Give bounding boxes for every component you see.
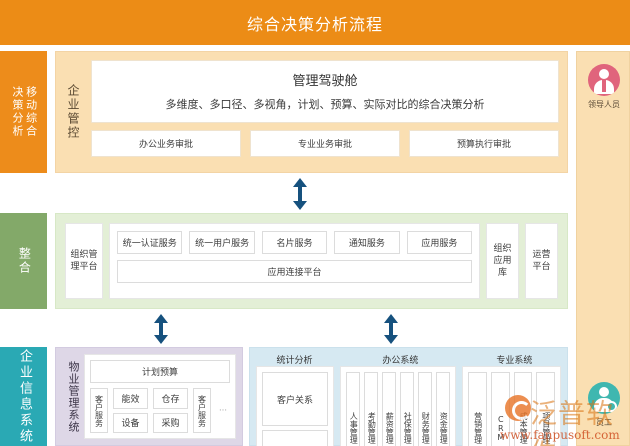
- staff-gear-avatar-icon: [588, 382, 620, 414]
- property-tile-grid: 客户服务 能效 仓存 设备 采购 客户服务 ⋮: [90, 388, 230, 433]
- customer-service-left-tile[interactable]: 客户服务: [90, 388, 108, 433]
- gear-icon: [606, 401, 617, 412]
- plan-budget-bar[interactable]: 计划预算: [90, 360, 230, 383]
- pro-crm[interactable]: CRM: [491, 372, 510, 446]
- arrow-control-to-integration: [290, 178, 310, 214]
- org-application-library-card[interactable]: 组织应用库: [486, 223, 519, 299]
- header-office: 办公系统: [333, 353, 468, 366]
- service-application[interactable]: 应用服务: [407, 231, 472, 254]
- role-staff[interactable]: 员工: [577, 382, 630, 428]
- staff-head-shape: [599, 387, 609, 397]
- service-business-card[interactable]: 名片服务: [262, 231, 327, 254]
- property-tile-row: 设备 采购: [113, 413, 188, 434]
- arrow-integration-to-systems: [382, 314, 400, 348]
- leader-tie-shape: [602, 80, 606, 92]
- sidebar-item-integration: 整合: [0, 213, 47, 309]
- double-vertical-arrow-icon: [152, 314, 170, 344]
- stat-customer-relations[interactable]: 客户关系: [262, 372, 328, 426]
- services-row: 统一认证服务 统一用户服务 名片服务 通知服务 应用服务: [117, 231, 472, 254]
- double-vertical-arrow-icon: [290, 178, 310, 210]
- office-attendance-management[interactable]: 考勤管理: [364, 372, 378, 446]
- cockpit-title: 管理驾驶舱: [98, 70, 552, 89]
- org-management-platform-card[interactable]: 组织管理平台: [65, 223, 103, 299]
- office-fund-label: 资金管理: [439, 412, 447, 444]
- tile-procurement[interactable]: 采购: [153, 413, 188, 434]
- page-title: 综合决策分析流程: [0, 0, 630, 45]
- property-tile-row: 能效 仓存: [113, 388, 188, 409]
- property-side-label-wrap: 物业管理系统: [62, 354, 84, 439]
- rail-label-mobile: 移动综合: [24, 86, 37, 138]
- header-statistics: 统计分析: [256, 353, 333, 366]
- office-fund-management[interactable]: 资金管理: [436, 372, 450, 446]
- approval-professional-button[interactable]: 专业业务审批: [250, 130, 400, 157]
- flow-diagram-root: 综合决策分析流程 移动综合 决策分析 整合 企业信息系统 企业管控 管理驾驶舱 …: [0, 0, 630, 446]
- service-unified-user[interactable]: 统一用户服务: [189, 231, 254, 254]
- more-dots-icon: ⋮: [216, 388, 230, 433]
- integration-platform-panel: 组织管理平台 统一认证服务 统一用户服务 名片服务 通知服务 应用服务 应用连接…: [55, 213, 568, 309]
- enterprise-control-panel: 企业管控 管理驾驶舱 多维度、多口径、多视角，计划、预算、实际对比的综合决策分析…: [55, 51, 568, 173]
- property-side-label: 物业管理系统: [65, 361, 81, 433]
- services-box: 统一认证服务 统一用户服务 名片服务 通知服务 应用服务 应用连接平台: [109, 223, 480, 299]
- tile-energy-efficiency[interactable]: 能效: [113, 388, 148, 409]
- office-payroll-management[interactable]: 薪资管理: [382, 372, 396, 446]
- stat-report-system[interactable]: 报表系统: [262, 430, 328, 446]
- control-panel-side-label-wrap: 企业管控: [56, 52, 91, 172]
- office-hr-management[interactable]: 人事管理: [346, 372, 360, 446]
- role-leader[interactable]: 领导人员: [577, 64, 630, 110]
- approval-office-button[interactable]: 办公业务审批: [91, 130, 241, 157]
- header-professional: 专业系统: [468, 353, 561, 366]
- business-systems-panel: 统计分析 办公系统 专业系统 客户关系 报表系统 人事管理 考勤管理 薪资管理 …: [249, 347, 568, 446]
- service-notification[interactable]: 通知服务: [334, 231, 399, 254]
- property-management-panel: 物业管理系统 计划预算 客户服务 能效 仓存 设备 采购: [55, 347, 243, 446]
- operation-platform-card[interactable]: 运营平台: [525, 223, 558, 299]
- office-social-insurance-management[interactable]: 社保管理: [400, 372, 414, 446]
- rail-label-enterprise: 企业信息系统: [16, 349, 31, 445]
- role-leader-label: 领导人员: [577, 99, 630, 110]
- statistics-box: 客户关系 报表系统: [256, 366, 334, 446]
- customer-service-right-tile[interactable]: 客户服务: [193, 388, 211, 433]
- roles-sidebar: 领导人员 员工: [576, 51, 630, 446]
- professional-systems-box: 营销管理 CRM 成本管理 项目管理: [462, 366, 561, 446]
- pro-cost-label: 成本管理: [519, 412, 527, 444]
- systems-body: 客户关系 报表系统 人事管理 考勤管理 薪资管理 社保管理 财务管理 资金管理 …: [256, 366, 561, 446]
- office-payroll-label: 薪资管理: [385, 412, 393, 444]
- systems-header-row: 统计分析 办公系统 专业系统: [256, 353, 561, 366]
- application-connect-platform[interactable]: 应用连接平台: [117, 260, 472, 283]
- pro-project-label: 项目管理: [541, 412, 549, 444]
- double-vertical-arrow-icon: [382, 314, 400, 344]
- office-finance-label: 财务管理: [421, 412, 429, 444]
- office-systems-box: 人事管理 考勤管理 薪资管理 社保管理 财务管理 资金管理: [340, 366, 456, 446]
- sidebar-item-enterprise-info-system: 企业信息系统: [0, 347, 47, 446]
- pro-marketing-management[interactable]: 营销管理: [468, 372, 487, 446]
- approval-button-row: 办公业务审批 专业业务审批 预算执行审批: [91, 130, 559, 157]
- property-2x2-grid: 能效 仓存 设备 采购: [113, 388, 188, 433]
- property-inner: 计划预算 客户服务 能效 仓存 设备 采购 客户服务: [84, 354, 236, 439]
- office-social-label: 社保管理: [403, 412, 411, 444]
- approval-budget-button[interactable]: 预算执行审批: [409, 130, 559, 157]
- pro-marketing-label: 营销管理: [473, 412, 481, 444]
- management-cockpit-card[interactable]: 管理驾驶舱 多维度、多口径、多视角，计划、预算、实际对比的综合决策分析: [91, 60, 559, 123]
- arrow-integration-to-property: [152, 314, 170, 348]
- pro-project-management[interactable]: 项目管理: [536, 372, 555, 446]
- control-panel-side-label: 企业管控: [65, 84, 82, 140]
- role-staff-label: 员工: [577, 417, 630, 428]
- leader-avatar-icon: [588, 64, 620, 96]
- sidebar-item-mobile-decision: 移动综合 决策分析: [0, 51, 47, 173]
- pro-cost-management[interactable]: 成本管理: [514, 372, 533, 446]
- office-finance-management[interactable]: 财务管理: [418, 372, 432, 446]
- rail-label-integration: 整合: [17, 247, 31, 275]
- customer-service-left-label: 客户服务: [94, 395, 105, 427]
- service-unified-auth[interactable]: 统一认证服务: [117, 231, 182, 254]
- rail-label-decision: 决策分析: [10, 86, 23, 138]
- tile-inventory[interactable]: 仓存: [153, 388, 188, 409]
- customer-service-right-label: 客户服务: [197, 395, 208, 427]
- tile-equipment[interactable]: 设备: [113, 413, 148, 434]
- leader-head-shape: [599, 69, 609, 79]
- office-hr-label: 人事管理: [349, 412, 357, 444]
- pro-crm-label: CRM: [496, 415, 504, 442]
- office-attendance-label: 考勤管理: [367, 412, 375, 444]
- control-panel-inner: 管理驾驶舱 多维度、多口径、多视角，计划、预算、实际对比的综合决策分析 办公业务…: [91, 52, 567, 172]
- cockpit-subtitle: 多维度、多口径、多视角，计划、预算、实际对比的综合决策分析: [98, 96, 552, 112]
